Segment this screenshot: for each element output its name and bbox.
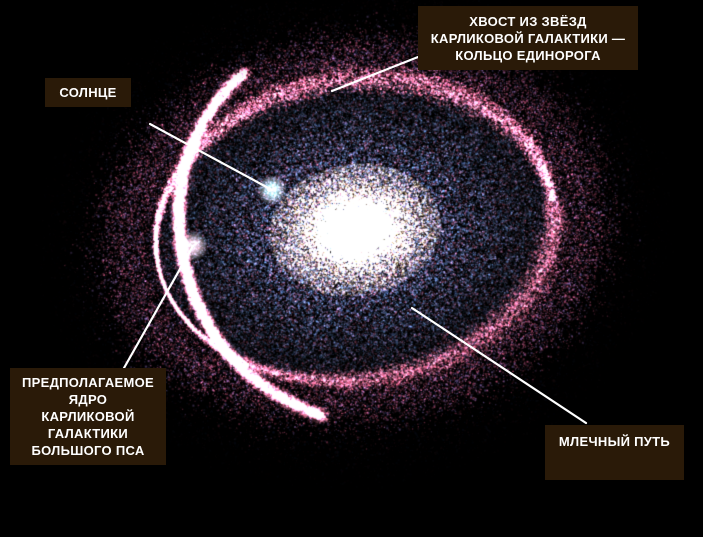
callout-line: ПРЕДПОЛАГАЕМОЕ <box>22 374 154 391</box>
callout-line: ЯДРО <box>22 391 154 408</box>
callout-line: ГАЛАКТИКИ <box>22 425 154 442</box>
monoceros-ring-callout[interactable]: ХВОСТ ИЗ ЗВЁЗД КАРЛИКОВОЙ ГАЛАКТИКИ — КО… <box>418 6 638 70</box>
callout-line: КАРЛИКОВОЙ ГАЛАКТИКИ — <box>431 30 625 47</box>
callout-line: СОЛНЦЕ <box>59 85 116 101</box>
callout-line: КАРЛИКОВОЙ <box>22 408 154 425</box>
callout-line: МЛЕЧНЫЙ ПУТЬ <box>559 434 670 450</box>
milky-way-callout[interactable]: МЛЕЧНЫЙ ПУТЬ <box>545 425 684 480</box>
callout-line: ХВОСТ ИЗ ЗВЁЗД <box>431 13 625 30</box>
dwarf-core-callout[interactable]: ПРЕДПОЛАГАЕМОЕ ЯДРО КАРЛИКОВОЙ ГАЛАКТИКИ… <box>10 368 166 465</box>
sun-callout[interactable]: СОЛНЦЕ <box>45 78 131 107</box>
callout-line: КОЛЬЦО ЕДИНОРОГА <box>431 47 625 64</box>
astronomy-illustration: ХВОСТ ИЗ ЗВЁЗД КАРЛИКОВОЙ ГАЛАКТИКИ — КО… <box>0 0 703 537</box>
callout-line: БОЛЬШОГО ПСА <box>22 442 154 459</box>
